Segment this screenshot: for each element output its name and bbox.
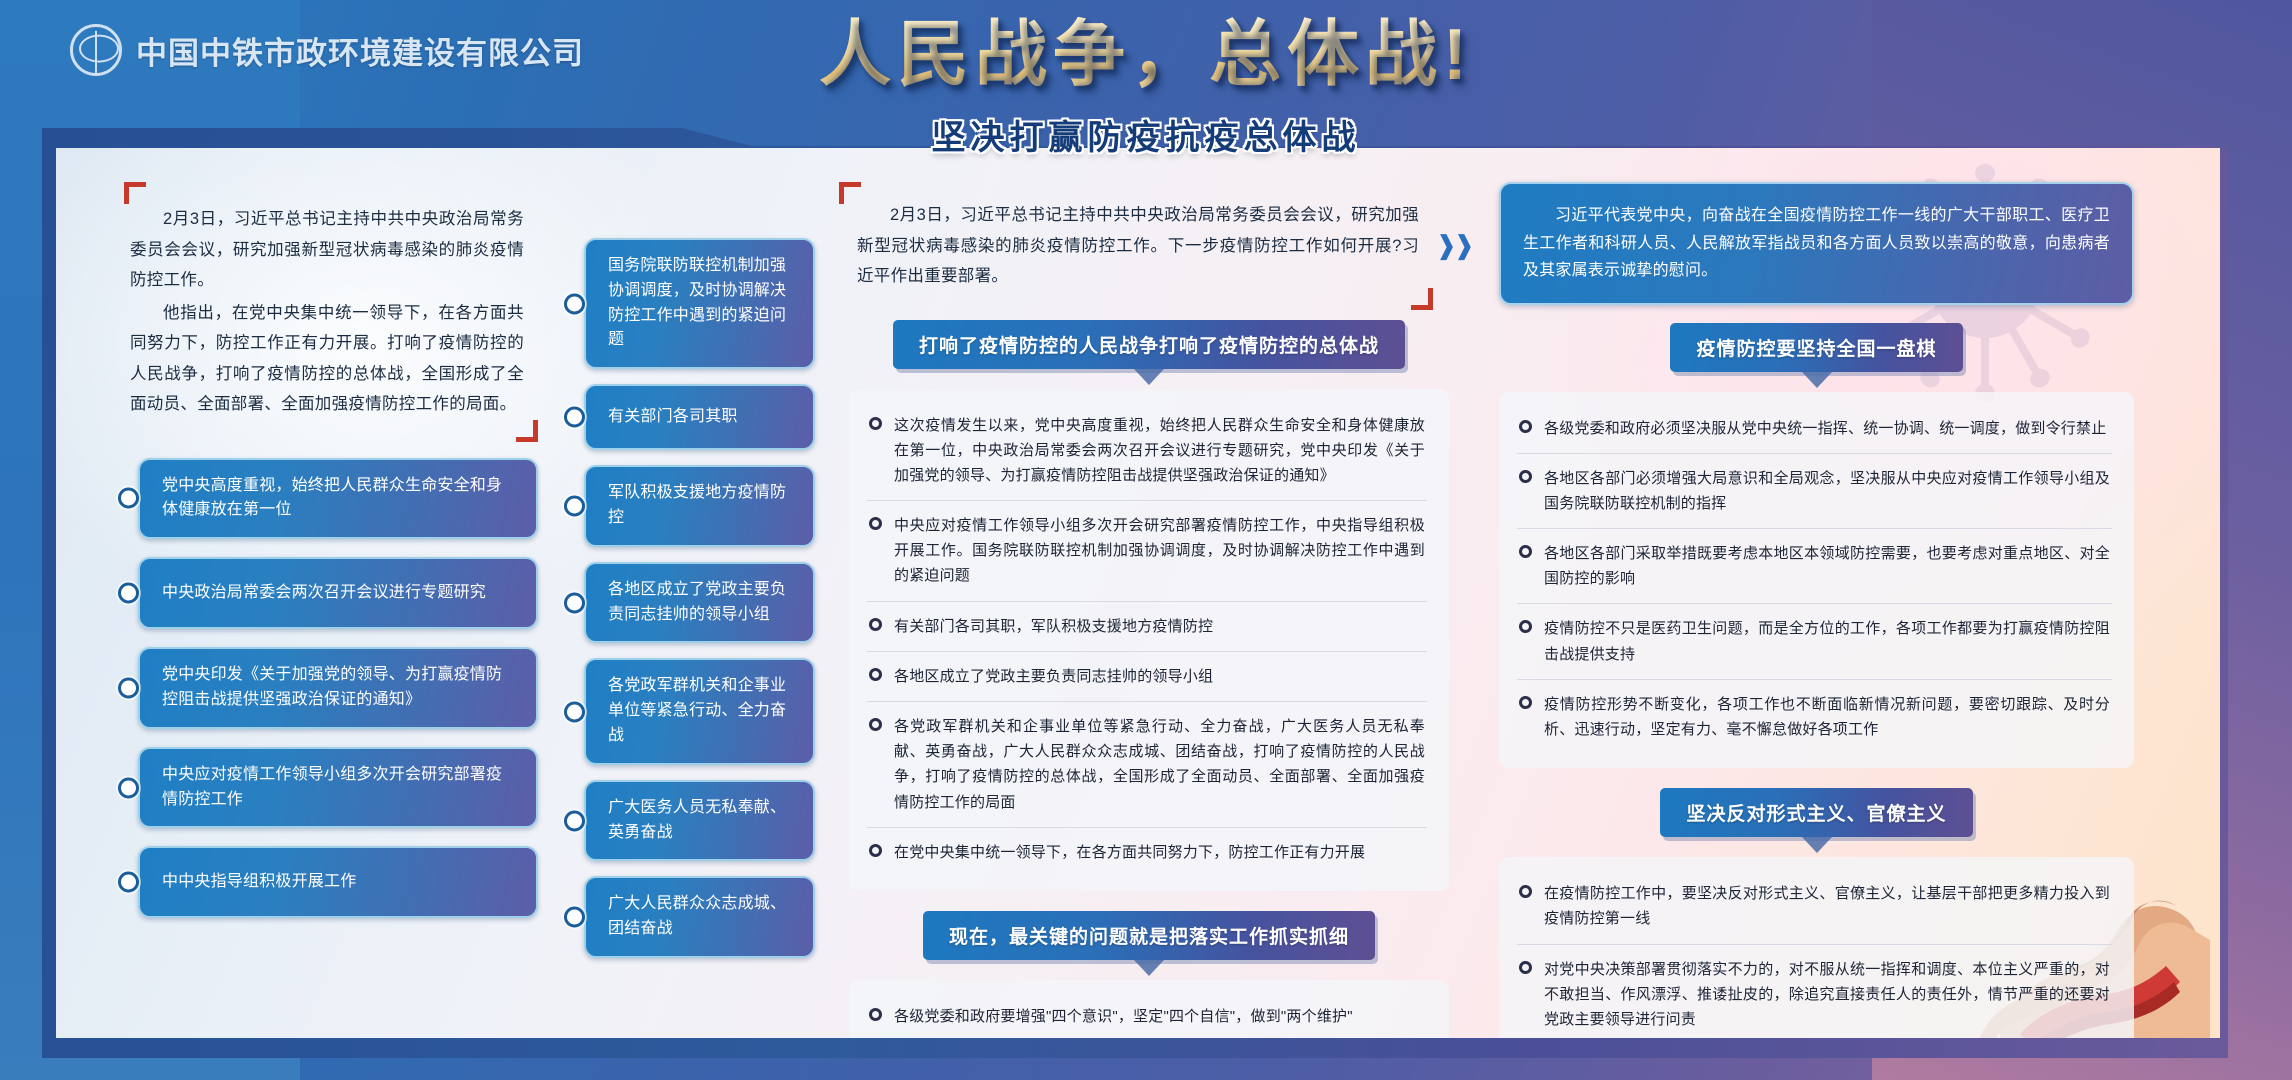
list-item: 有关部门各司其职，军队积极支援地方疫情防控 <box>867 601 1427 651</box>
bullet-text: 对党中央决策部署贯彻落实不力的，对不服从统一指挥和调度、本位主义严重的，对不敢担… <box>1544 957 2110 1033</box>
bullet-text: 各级党委和政府要增强"四个意识"，坚定"四个自信"，做到"两个维护" <box>894 1004 1353 1029</box>
bullet-text: 这次疫情发生以来，党中央高度重视，始终把人民群众生命安全和身体健康放在第一位，中… <box>894 413 1425 489</box>
list-item[interactable]: 有关部门各司其职 <box>584 384 815 450</box>
bullet-icon <box>869 417 882 430</box>
bullet-icon <box>1519 620 1532 633</box>
bullet-icon <box>869 618 882 631</box>
bullet-text: 有关部门各司其职，军队积极支援地方疫情防控 <box>894 614 1213 639</box>
middle-section2-header: 现在，最关键的问题就是把落实工作抓实抓细 <box>849 911 1449 960</box>
section-arrow-down-icon <box>1802 837 1832 853</box>
list-item[interactable]: 中央应对疫情工作领导小组多次开会研究部署疫情防控工作 <box>138 747 538 829</box>
title-block: 人民战争，总体战! 坚决打赢防疫抗疫总体战 <box>0 10 2292 159</box>
middle-section1-card: 这次疫情发生以来，党中央高度重视，始终把人民群众生命安全和身体健康放在第一位，中… <box>849 389 1449 891</box>
right-intro-box: 习近平代表党中央，向奋战在全国疫情防控工作一线的广大干部职工、医疗卫生工作者和科… <box>1499 182 2134 305</box>
list-item: 各级党委和政府要增强"四个意识"，坚定"四个自信"，做到"两个维护" <box>867 992 1427 1038</box>
middle-section1-header: 打响了疫情防控的人民战争打响了疫情防控的总体战 <box>849 320 1449 369</box>
list-item: 中央应对疫情工作领导小组多次开会研究部署疫情防控工作，中央指导组积极开展工作。国… <box>867 500 1427 601</box>
bullet-icon <box>1519 885 1532 898</box>
bullet-icon <box>869 517 882 530</box>
list-item: 各地区各部门必须增强大局意识和全局观念，坚决服从中央应对疫情工作领导小组及国务院… <box>1517 453 2112 528</box>
right-section2-card: 在疫情防控工作中，要坚决反对形式主义、官僚主义，让基层干部把更多精力投入到疫情防… <box>1499 857 2134 1038</box>
corner-bracket-bottom-right-icon <box>516 420 538 442</box>
bullet-icon <box>869 718 882 731</box>
section-heading: 打响了疫情防控的人民战争打响了疫情防控的总体战 <box>893 320 1405 369</box>
left-intro-paragraph-1: 2月3日，习近平总书记主持中共中央政治局常务委员会会议，研究加强新型冠状病毒感染… <box>130 204 524 296</box>
bullet-text: 中央应对疫情工作领导小组多次开会研究部署疫情防控工作，中央指导组积极开展工作。国… <box>894 513 1425 589</box>
right-intro-paragraph: 习近平代表党中央，向奋战在全国疫情防控工作一线的广大干部职工、医疗卫生工作者和科… <box>1523 202 2110 285</box>
bullet-text: 各级党委和政府必须坚决服从党中央统一指挥、统一协调、统一调度，做到令行禁止 <box>1544 416 2106 441</box>
section-heading: 坚决反对形式主义、官僚主义 <box>1660 788 1972 837</box>
pill-label: 军队积极支援地方疫情防控 <box>608 481 793 531</box>
section-arrow-down-icon <box>1134 960 1164 976</box>
list-item[interactable]: 各党政军群机关和企事业单位等紧急行动、全力奋战 <box>584 658 815 764</box>
right-section2-header: 坚决反对形式主义、官僚主义 <box>1499 788 2134 837</box>
list-item[interactable]: 广大人民群众众志成城、团结奋战 <box>584 876 815 958</box>
bullet-icon <box>1519 420 1532 433</box>
column-right: 习近平代表党中央，向奋战在全国疫情防控工作一线的广大干部职工、医疗卫生工作者和科… <box>1465 182 2194 1018</box>
column-left-secondary: 国务院联防联控机制加强协调调度，及时协调解决防控工作中遇到的紧迫问题 有关部门各… <box>560 182 825 1018</box>
bullet-text: 各地区各部门采取举措既要考虑本地区本领域防控需要，也要考虑对重点地区、对全国防控… <box>1544 541 2110 591</box>
list-item[interactable]: 党中央高度重视，始终把人民群众生命安全和身体健康放在第一位 <box>138 458 538 540</box>
pill-label: 中中央指导组积极开展工作 <box>162 870 356 895</box>
corner-bracket-top-left-icon <box>839 182 861 204</box>
poster-sub-title: 坚决打赢防疫抗疫总体战 <box>932 110 1361 159</box>
bullet-text: 各地区成立了党政主要负责同志挂帅的领导小组 <box>894 664 1213 689</box>
bullet-icon <box>869 844 882 857</box>
list-item[interactable]: 中央政治局常委会两次召开会议进行专题研究 <box>138 557 538 629</box>
left-intro-block: 2月3日，习近平总书记主持中共中央政治局常务委员会会议，研究加强新型冠状病毒感染… <box>124 182 538 442</box>
pill-label: 中央应对疫情工作领导小组多次开会研究部署疫情防控工作 <box>162 763 516 813</box>
list-item: 疫情防控形势不断变化，各项工作也不断面临新情况新问题，要密切跟踪、及时分析、迅速… <box>1517 679 2112 754</box>
bullet-text: 在党中央集中统一领导下，在各方面共同努力下，防控工作正有力开展 <box>894 840 1365 865</box>
poster-main-title: 人民战争，总体战! <box>819 10 1473 100</box>
bullet-icon <box>869 1008 882 1021</box>
bullet-text: 各党政军群机关和企事业单位等紧急行动、全力奋战，广大医务人员无私奉献、英勇奋战，… <box>894 714 1425 815</box>
section-heading: 现在，最关键的问题就是把落实工作抓实抓细 <box>923 911 1375 960</box>
list-item: 各级党委和政府必须坚决服从党中央统一指挥、统一协调、统一调度，做到令行禁止 <box>1517 404 2112 453</box>
list-item[interactable]: 中中央指导组积极开展工作 <box>138 846 538 918</box>
middle-section2-card: 各级党委和政府要增强"四个意识"，坚定"四个自信"，做到"两个维护" 认真贯彻落… <box>849 980 1449 1038</box>
pill-label: 各地区成立了党政主要负责同志挂帅的领导小组 <box>608 578 793 628</box>
section-arrow-down-icon <box>1134 369 1164 385</box>
middle-intro-block: 2月3日，习近平总书记主持中共中央政治局常务委员会会议，研究加强新型冠状病毒感染… <box>849 182 1449 306</box>
corner-bracket-bottom-right-icon <box>1411 288 1433 310</box>
bullet-icon <box>1519 545 1532 558</box>
column-left: 2月3日，习近平总书记主持中共中央政治局常务委员会会议，研究加强新型冠状病毒感染… <box>90 182 560 1018</box>
list-item: 在党中央集中统一领导下，在各方面共同努力下，防控工作正有力开展 <box>867 827 1427 877</box>
pill-label: 党中央高度重视，始终把人民群众生命安全和身体健康放在第一位 <box>162 474 516 524</box>
pill-label: 党中央印发《关于加强党的领导、为打赢疫情防控阻击战提供坚强政治保证的通知》 <box>162 663 516 713</box>
bullet-text: 各地区各部门必须增强大局意识和全局观念，坚决服从中央应对疫情工作领导小组及国务院… <box>1544 466 2110 516</box>
bullet-icon <box>1519 470 1532 483</box>
list-item: 各地区成立了党政主要负责同志挂帅的领导小组 <box>867 651 1427 701</box>
list-item[interactable]: 广大医务人员无私奉献、英勇奋战 <box>584 780 815 862</box>
bullet-icon <box>869 668 882 681</box>
pill-label: 广大人民群众众志成城、团结奋战 <box>608 892 793 942</box>
middle-intro-paragraph: 2月3日，习近平总书记主持中共中央政治局常务委员会会议，研究加强新型冠状病毒感染… <box>857 200 1419 292</box>
list-item: 疫情防控不只是医药卫生问题，而是全方位的工作，各项工作都要为打赢疫情防控阻击战提… <box>1517 603 2112 678</box>
pill-label: 中央政治局常委会两次召开会议进行专题研究 <box>162 581 486 606</box>
pill-label: 各党政军群机关和企事业单位等紧急行动、全力奋战 <box>608 674 793 748</box>
bullet-icon <box>1519 696 1532 709</box>
list-item[interactable]: 党中央印发《关于加强党的领导、为打赢疫情防控阻击战提供坚强政治保证的通知》 <box>138 647 538 729</box>
list-item: 这次疫情发生以来，党中央高度重视，始终把人民群众生命安全和身体健康放在第一位，中… <box>867 401 1427 501</box>
pill-label: 有关部门各司其职 <box>608 405 738 430</box>
bullet-text: 在疫情防控工作中，要坚决反对形式主义、官僚主义，让基层干部把更多精力投入到疫情防… <box>1544 881 2110 931</box>
left-pill-list: 党中央高度重视，始终把人民群众生命安全和身体健康放在第一位 中央政治局常委会两次… <box>124 458 538 919</box>
list-item[interactable]: 各地区成立了党政主要负责同志挂帅的领导小组 <box>584 562 815 644</box>
corner-bracket-top-left-icon <box>124 182 146 204</box>
bullet-text: 疫情防控不只是医药卫生问题，而是全方位的工作，各项工作都要为打赢疫情防控阻击战提… <box>1544 616 2110 666</box>
right-section1-card: 各级党委和政府必须坚决服从党中央统一指挥、统一协调、统一调度，做到令行禁止 各地… <box>1499 392 2134 769</box>
pill-label: 广大医务人员无私奉献、英勇奋战 <box>608 796 793 846</box>
bullet-icon <box>1519 961 1532 974</box>
column-middle: 2月3日，习近平总书记主持中共中央政治局常务委员会会议，研究加强新型冠状病毒感染… <box>825 182 1465 1018</box>
bullet-text: 疫情防控形势不断变化，各项工作也不断面临新情况新问题，要密切跟踪、及时分析、迅速… <box>1544 692 2110 742</box>
poster-header: 中国中铁市政环境建设有限公司 人民战争，总体战! 坚决打赢防疫抗疫总体战 <box>0 0 2292 150</box>
section-heading: 疫情防控要坚持全国一盘棋 <box>1670 323 1962 372</box>
pill-label: 国务院联防联控机制加强协调调度，及时协调解决防控工作中遇到的紧迫问题 <box>608 254 793 353</box>
list-item[interactable]: 军队积极支援地方疫情防控 <box>584 465 815 547</box>
list-item: 对党中央决策部署贯彻落实不力的，对不服从统一指挥和调度、本位主义严重的，对不敢担… <box>1517 944 2112 1038</box>
left-intro-paragraph-2: 他指出，在党中央集中统一领导下，在各方面共同努力下，防控工作正有力开展。打响了疫… <box>130 298 524 420</box>
list-item: 在疫情防控工作中，要坚决反对形式主义、官僚主义，让基层干部把更多精力投入到疫情防… <box>1517 869 2112 943</box>
list-item: 各地区各部门采取举措既要考虑本地区本领域防控需要，也要考虑对重点地区、对全国防控… <box>1517 528 2112 603</box>
list-item[interactable]: 国务院联防联控机制加强协调调度，及时协调解决防控工作中遇到的紧迫问题 <box>584 238 815 369</box>
left2-pill-list: 国务院联防联控机制加强协调调度，及时协调解决防控工作中遇到的紧迫问题 有关部门各… <box>570 238 815 958</box>
list-item: 各党政军群机关和企事业单位等紧急行动、全力奋战，广大医务人员无私奉献、英勇奋战，… <box>867 701 1427 827</box>
main-panel: 2月3日，习近平总书记主持中共中央政治局常务委员会会议，研究加强新型冠状病毒感染… <box>56 148 2220 1038</box>
right-section1-header: 疫情防控要坚持全国一盘棋 <box>1499 323 2134 372</box>
section-arrow-down-icon <box>1802 372 1832 388</box>
